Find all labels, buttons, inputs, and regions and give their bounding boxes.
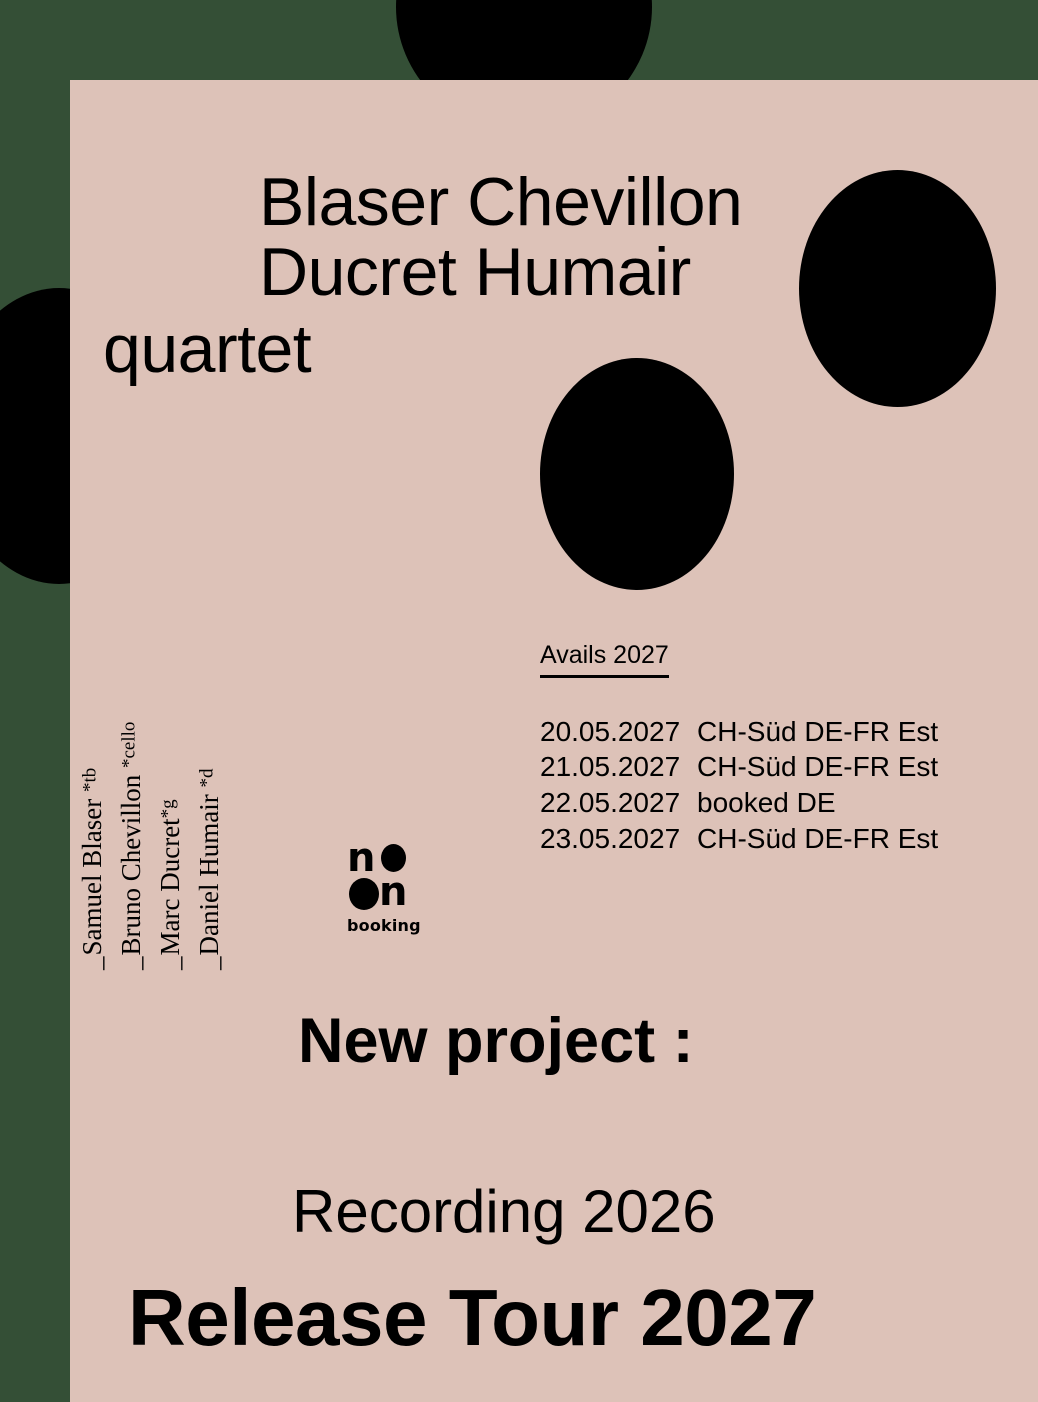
logo-letter-n-top: n: [347, 838, 375, 878]
logo-wordmark: booking: [347, 916, 421, 935]
personnel-prefix: _: [116, 956, 146, 971]
announcement-recording: Recording 2026: [292, 1182, 716, 1242]
availability-rows: 20.05.2027 CH-Süd DE-FR Est 21.05.2027 C…: [540, 714, 938, 857]
personnel-item: _Bruno Chevillon *cello: [118, 722, 145, 970]
poster-canvas: Blaser Chevillon Ducret Humair quartet _…: [0, 0, 1038, 1402]
availability-date: 22.05.2027: [540, 785, 697, 821]
availability-row: 23.05.2027 CH-Süd DE-FR Est: [540, 821, 938, 857]
personnel-name: Samuel Blaser: [77, 792, 107, 955]
personnel-name: Marc Ducret: [155, 818, 185, 955]
availability-date: 23.05.2027: [540, 821, 697, 857]
logo-letter-n-bottom: n: [379, 872, 407, 912]
availability-date: 21.05.2027: [540, 749, 697, 785]
title-line-1: Blaser Chevillon: [259, 168, 742, 236]
personnel-item: _Samuel Blaser *tb: [79, 768, 106, 970]
availability-row: 22.05.2027 booked DE: [540, 785, 938, 821]
personnel-instrument: *g: [158, 799, 179, 818]
personnel-prefix: _: [194, 956, 224, 971]
availability-region: CH-Süd DE-FR Est: [697, 749, 938, 785]
personnel-item: _Daniel Humair *d: [196, 769, 223, 970]
availability-date: 20.05.2027: [540, 714, 697, 750]
personnel-list: _Samuel Blaser *tb _Bruno Chevillon *cel…: [88, 570, 288, 970]
personnel-name: Daniel Humair: [194, 788, 224, 956]
logo-mark-icon: n n: [347, 840, 409, 914]
personnel-item: _Marc Ducret*g: [157, 799, 184, 970]
non-booking-logo: n n booking: [347, 840, 419, 942]
availability-panel: Avails 2027 20.05.2027 CH-Süd DE-FR Est …: [540, 642, 938, 857]
personnel-prefix: _: [77, 956, 107, 971]
decorative-circle-right-icon: [799, 170, 996, 407]
announcement-release-tour: Release Tour 2027: [128, 1278, 816, 1358]
decorative-circle-center-icon: [540, 358, 734, 590]
title-line-2: Ducret Humair: [259, 238, 691, 306]
personnel-instrument: *d: [197, 769, 218, 788]
personnel-instrument: *tb: [80, 768, 101, 792]
personnel-name: Bruno Chevillon: [116, 768, 146, 956]
logo-letter-o-bottom-icon: [349, 878, 379, 910]
logo-letter-o-top-icon: [381, 844, 406, 872]
availability-heading: Avails 2027: [540, 642, 669, 678]
availability-region: CH-Süd DE-FR Est: [697, 821, 938, 857]
availability-row: 20.05.2027 CH-Süd DE-FR Est: [540, 714, 938, 750]
availability-region: CH-Süd DE-FR Est: [697, 714, 938, 750]
personnel-prefix: _: [155, 956, 185, 971]
announcement-new-project: New project :: [298, 1010, 694, 1073]
title-line-3: quartet: [103, 315, 311, 383]
poster-sheet: Blaser Chevillon Ducret Humair quartet _…: [70, 80, 1038, 1402]
availability-row: 21.05.2027 CH-Süd DE-FR Est: [540, 749, 938, 785]
availability-region: booked DE: [697, 785, 836, 821]
personnel-instrument: *cello: [119, 722, 140, 768]
